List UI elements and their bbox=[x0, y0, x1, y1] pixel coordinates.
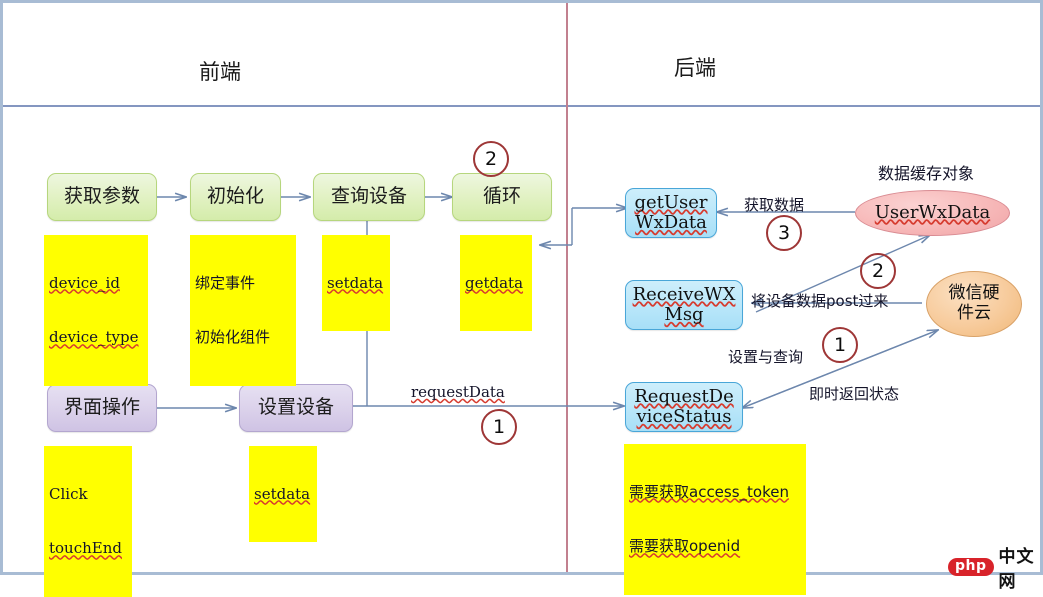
entity-caption-data-cache: 数据缓存对象 bbox=[878, 160, 974, 184]
note-line2: 需要获取openid bbox=[629, 537, 801, 555]
note-token-openid: 需要获取access_token 需要获取openid bbox=[624, 444, 806, 595]
note-line2: touchEnd bbox=[49, 539, 127, 557]
step-number-value: 1 bbox=[493, 416, 505, 438]
step-number-value: 2 bbox=[872, 260, 884, 282]
note-line1: Click bbox=[49, 485, 127, 503]
edge-label-set-and-query: 设置与查询 bbox=[728, 346, 803, 367]
node-request-device-status[interactable]: RequestDe viceStatus bbox=[625, 382, 743, 432]
node-label-line2: WxData bbox=[635, 213, 707, 233]
node-set-device[interactable]: 设置设备 bbox=[239, 384, 353, 432]
entity-label-line1: 微信硬 bbox=[949, 284, 1000, 304]
edge-label-fetch-data: 获取数据 bbox=[744, 194, 804, 215]
note-line1: device_id bbox=[49, 274, 143, 292]
node-label-line1: getUser bbox=[634, 193, 707, 213]
node-get-user-wx-data[interactable]: getUser WxData bbox=[625, 188, 717, 238]
node-label-line1: ReceiveWX bbox=[633, 285, 736, 305]
step-number-request-1: 1 bbox=[481, 409, 517, 445]
step-number-fetch-3: 3 bbox=[766, 215, 802, 251]
node-receive-wx-msg[interactable]: ReceiveWX Msg bbox=[625, 280, 743, 330]
step-number-post-2: 2 bbox=[860, 253, 896, 289]
node-label: 设置设备 bbox=[258, 397, 334, 418]
step-number-value: 2 bbox=[485, 148, 497, 170]
node-ui-operation[interactable]: 界面操作 bbox=[47, 384, 157, 432]
node-label-line2: viceStatus bbox=[636, 407, 731, 427]
note-line1: getdata bbox=[465, 274, 527, 292]
step-number-query-1: 1 bbox=[822, 327, 858, 363]
note-setdata-query: setdata bbox=[322, 235, 390, 331]
node-initialize[interactable]: 初始化 bbox=[190, 173, 281, 221]
node-label: 初始化 bbox=[207, 186, 264, 207]
edge-label-post-device-data: 将设备数据post过来 bbox=[751, 290, 888, 311]
entity-label: UserWxData bbox=[875, 203, 990, 224]
node-label: 获取参数 bbox=[64, 186, 140, 207]
step-number-value: 3 bbox=[778, 222, 790, 244]
entity-wechat-hardware-cloud[interactable]: 微信硬 件云 bbox=[926, 271, 1022, 337]
entity-user-wx-data[interactable]: UserWxData bbox=[855, 190, 1010, 236]
node-label: 循环 bbox=[483, 186, 521, 207]
node-label: 查询设备 bbox=[331, 186, 407, 207]
edge-label-realtime-status: 即时返回状态 bbox=[809, 383, 899, 404]
edge-label-request-data: requestData bbox=[411, 383, 505, 401]
node-label-line1: RequestDe bbox=[634, 387, 734, 407]
entity-label-line2: 件云 bbox=[957, 304, 991, 324]
note-setdata-set: setdata bbox=[249, 446, 317, 542]
note-getdata-loop: getdata bbox=[460, 235, 532, 331]
note-line2: device_type bbox=[49, 328, 143, 346]
node-label: 界面操作 bbox=[64, 397, 140, 418]
watermark-text: 中文网 bbox=[999, 542, 1043, 592]
note-line1: 需要获取access_token bbox=[629, 483, 801, 501]
step-number-loop-2: 2 bbox=[473, 141, 509, 177]
node-query-device[interactable]: 查询设备 bbox=[313, 173, 425, 221]
node-get-params[interactable]: 获取参数 bbox=[47, 173, 157, 221]
note-click-touchend: Click touchEnd bbox=[44, 446, 132, 597]
node-label-line2: Msg bbox=[664, 305, 703, 325]
watermark: php 中文网 bbox=[948, 542, 1043, 592]
note-line1: setdata bbox=[327, 274, 385, 292]
watermark-php-badge: php bbox=[948, 558, 994, 576]
step-number-value: 1 bbox=[834, 334, 846, 356]
note-line1: setdata bbox=[254, 485, 312, 503]
note-line2: 初始化组件 bbox=[195, 328, 291, 346]
node-loop[interactable]: 循环 bbox=[452, 173, 552, 221]
note-line1: 绑定事件 bbox=[195, 274, 291, 292]
note-init-events: 绑定事件 初始化组件 bbox=[190, 235, 296, 386]
diagram-canvas: 前端 后端 bbox=[0, 0, 1043, 575]
note-device-params: device_id device_type bbox=[44, 235, 148, 386]
